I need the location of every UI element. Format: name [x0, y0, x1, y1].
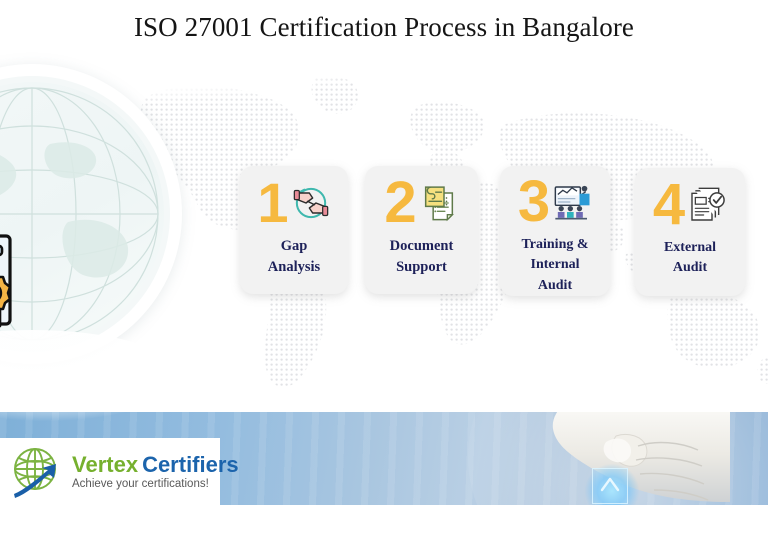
globe-wireframe-icon	[0, 82, 164, 346]
step-label-line2: Analysis	[268, 257, 320, 278]
step-card-label: External Audit	[658, 238, 722, 279]
brand-name: VertexCertifiers	[72, 453, 239, 476]
step-number: 3	[518, 173, 550, 231]
step-card-label: Gap Analysis	[262, 236, 326, 278]
step-label-line1: Training &	[521, 235, 588, 255]
step-card-label: Document Support	[384, 236, 460, 278]
document-support-icon	[419, 183, 459, 223]
step-number: 2	[384, 174, 416, 232]
step-card-document-support[interactable]: 2	[365, 166, 478, 294]
page-title: ISO 27001 Certification Process in Banga…	[0, 12, 768, 43]
step-card-gap-analysis[interactable]: 1 Gap Analysis	[240, 166, 348, 294]
step-card-header: 3	[500, 172, 610, 233]
certificate-document-icon	[0, 232, 16, 330]
step-label-line1: Document	[390, 236, 454, 257]
step-card-training-internal-audit[interactable]: 3	[500, 166, 610, 296]
step-number: 1	[257, 175, 288, 231]
step-label-line2: Support	[390, 257, 454, 278]
step-card-label: Training & Internal Audit	[515, 235, 594, 296]
handshake-icon	[291, 183, 331, 223]
brand-wordmark: VertexCertifiers Achieve your certificat…	[72, 453, 239, 490]
audit-documents-check-icon	[687, 185, 727, 225]
brand-tagline: Achieve your certifications!	[72, 478, 239, 490]
step-card-external-audit[interactable]: 4	[635, 168, 745, 296]
step-label-line3: Audit	[521, 276, 588, 296]
brand-logo[interactable]: VertexCertifiers Achieve your certificat…	[0, 438, 220, 505]
step-card-header: 1	[240, 172, 348, 234]
brand-name-part1: Vertex	[72, 452, 138, 477]
step-label-line2: Internal	[521, 255, 588, 275]
step-number: 4	[653, 176, 685, 234]
brand-name-part2: Certifiers	[142, 452, 239, 477]
touch-point-icon	[598, 474, 622, 498]
step-label-line1: Gap	[268, 236, 320, 257]
training-presentation-icon	[552, 182, 592, 222]
gloved-hand-touching-screen-photo	[430, 412, 730, 505]
step-label-line1: External	[664, 238, 716, 258]
vertex-globe-arrow-logo	[10, 444, 68, 500]
infographic-canvas: ISO 27001 Certification Process in Banga…	[0, 0, 768, 543]
iso-certification-badge: ISO Certification	[0, 82, 164, 346]
step-card-header: 4	[635, 174, 745, 236]
step-card-header: 2	[365, 172, 478, 234]
step-label-line2: Audit	[664, 258, 716, 278]
